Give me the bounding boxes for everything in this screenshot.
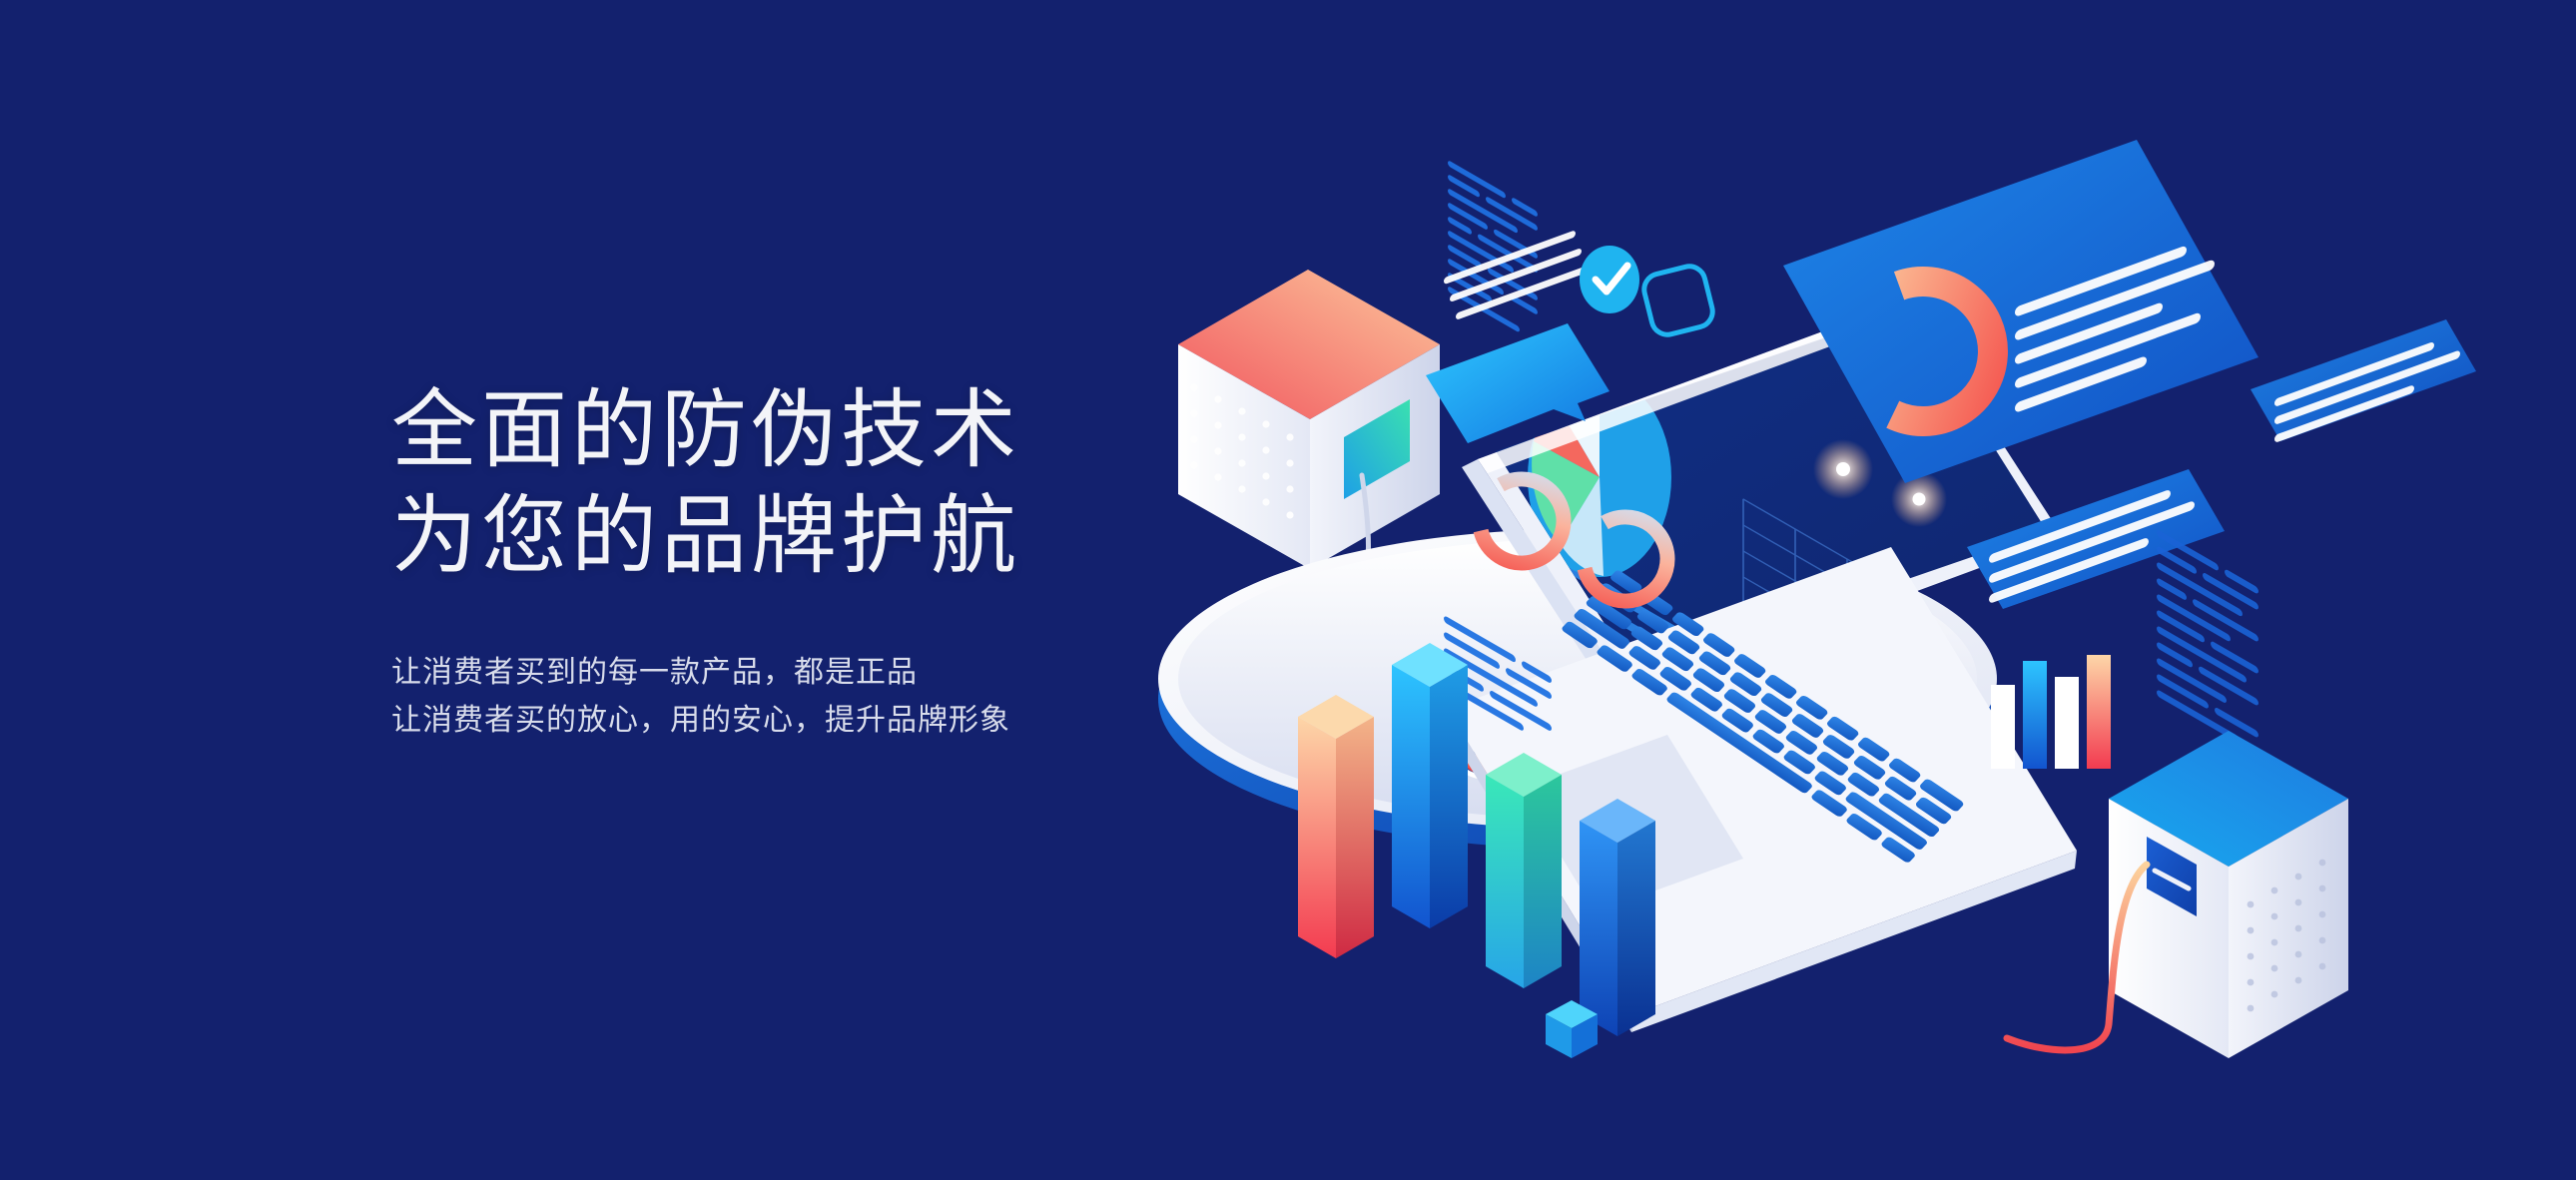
code-block-right bbox=[2157, 529, 2258, 755]
rounded-square-outline bbox=[1640, 263, 1715, 337]
hero-banner: 全面的防伪技术 为您的品牌护航 让消费者买到的每一款产品，都是正品 让消费者买的… bbox=[0, 0, 2576, 1180]
subtitle-line-1: 让消费者买到的每一款产品，都是正品 bbox=[391, 649, 1170, 697]
bar-3d bbox=[1486, 753, 1562, 988]
check-badge bbox=[1580, 246, 1639, 313]
info-card-right bbox=[2251, 319, 2476, 443]
subtitle-line-2: 让消费者买的放心，用的安心，提升品牌形象 bbox=[391, 697, 1170, 745]
mini-bar-chart bbox=[1991, 655, 2111, 769]
headline-line-2: 为您的品牌护航 bbox=[391, 483, 1170, 589]
illustration bbox=[1148, 100, 2506, 1098]
headline-line-1: 全面的防伪技术 bbox=[391, 377, 1170, 483]
bar-3d bbox=[1298, 695, 1374, 958]
bar-3d bbox=[1392, 643, 1468, 928]
copy-block: 全面的防伪技术 为您的品牌护航 让消费者买到的每一款产品，都是正品 让消费者买的… bbox=[391, 377, 1170, 745]
server-tower bbox=[2007, 731, 2348, 1058]
bar-3d bbox=[1580, 799, 1655, 1036]
subtitle-block: 让消费者买到的每一款产品，都是正品 让消费者买的放心，用的安心，提升品牌形象 bbox=[391, 649, 1170, 745]
